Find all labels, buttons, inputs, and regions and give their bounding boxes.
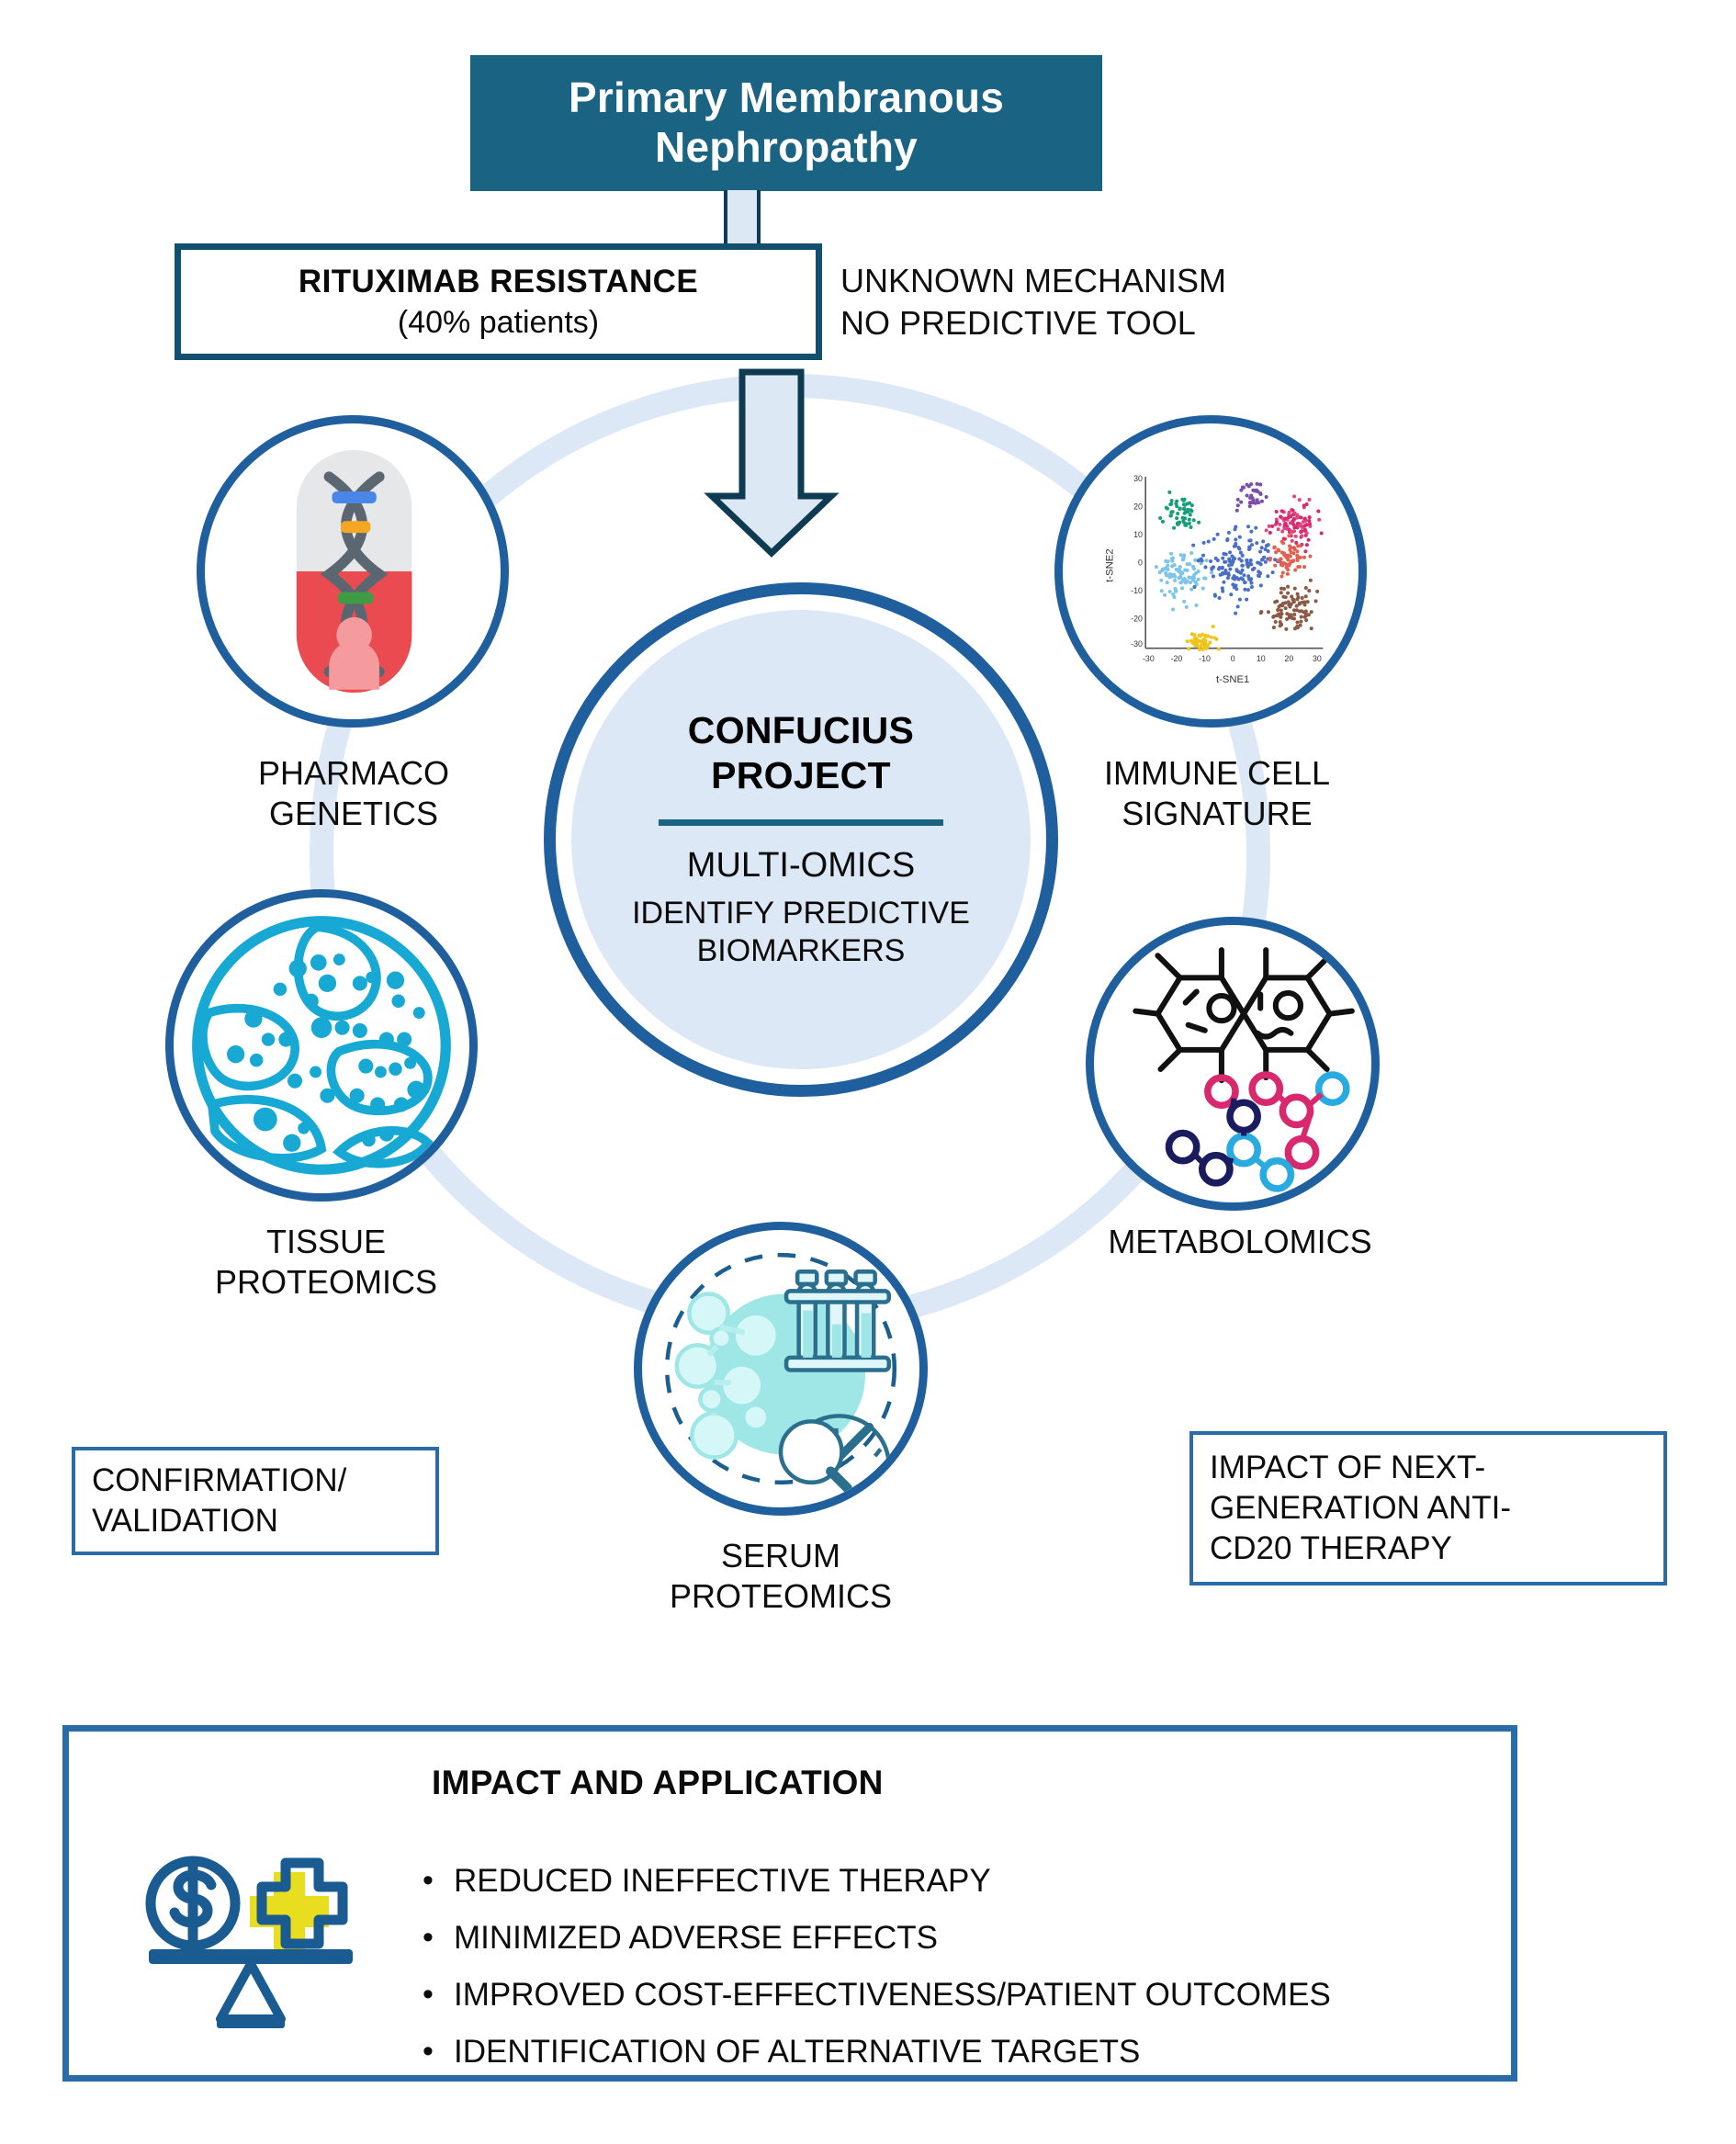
list-item-text: IDENTIFICATION OF ALTERNATIVE TARGETS bbox=[454, 2036, 1140, 2068]
confucius-project-content: CONFUCIUS PROJECT MULTI-OMICS IDENTIFY P… bbox=[571, 610, 1031, 1069]
svg-text:-10: -10 bbox=[1131, 586, 1143, 595]
rituximab-resistance-sub: (40% patients) bbox=[398, 305, 599, 341]
rituximab-resistance-title: RITUXIMAB RESISTANCE bbox=[299, 264, 698, 300]
svg-text:30: 30 bbox=[1133, 474, 1143, 483]
infographic-page: Primary Membranous Nephropathy RITUXIMAB… bbox=[0, 0, 1736, 2144]
bullet-glyph: • bbox=[423, 1979, 454, 2010]
project-name: CONFUCIUS PROJECT bbox=[688, 708, 914, 797]
list-item-text: IMPROVED COST-EFFECTIVENESS/PATIENT OUTC… bbox=[454, 1979, 1331, 2011]
node-label-immune-cell-signature: IMMUNE CELL SIGNATURE bbox=[1047, 753, 1387, 834]
tsne-scatter-icon: 30 20 10 0 -10 -20 -30 -30 -20 -10 0 10 … bbox=[1063, 423, 1358, 719]
confirmation-validation-box: CONFIRMATION/ VALIDATION bbox=[72, 1447, 439, 1555]
dna-capsule-icon bbox=[205, 423, 501, 719]
node-metabolomics[interactable] bbox=[1086, 917, 1380, 1211]
svg-text:10: 10 bbox=[1133, 530, 1143, 539]
anti-cd20-impact-box: IMPACT OF NEXT- GENERATION ANTI- CD20 TH… bbox=[1189, 1431, 1667, 1585]
node-pharmacogenetics[interactable] bbox=[197, 415, 509, 728]
bullet-glyph: • bbox=[423, 1922, 454, 1953]
bullet-glyph: • bbox=[423, 2036, 454, 2067]
confirmation-validation-text: CONFIRMATION/ VALIDATION bbox=[92, 1461, 346, 1541]
node-serum-proteomics[interactable] bbox=[634, 1222, 928, 1516]
node-immune-cell-signature[interactable]: 30 20 10 0 -10 -20 -30 -30 -20 -10 0 10 … bbox=[1054, 415, 1367, 728]
node-label-serum-proteomics: SERUM PROTEOMICS bbox=[625, 1536, 937, 1617]
test-tubes-icon bbox=[642, 1230, 919, 1507]
svg-text:-20: -20 bbox=[1171, 654, 1183, 663]
svg-text:0: 0 bbox=[1231, 654, 1235, 663]
page-title: Primary Membranous Nephropathy bbox=[470, 55, 1102, 191]
list-item: • IDENTIFICATION OF ALTERNATIVE TARGETS bbox=[423, 2036, 1479, 2068]
svg-text:-20: -20 bbox=[1131, 615, 1143, 624]
molecule-icon bbox=[1094, 925, 1371, 1202]
impact-application-heading: IMPACT AND APPLICATION bbox=[432, 1764, 884, 1802]
svg-text:-30: -30 bbox=[1143, 654, 1155, 663]
svg-text:0: 0 bbox=[1138, 559, 1143, 568]
list-item-text: MINIMIZED ADVERSE EFFECTS bbox=[454, 1922, 938, 1954]
node-label-pharmacogenetics: PHARMACO GENETICS bbox=[184, 753, 524, 834]
bullet-glyph: • bbox=[423, 1865, 454, 1896]
list-item: • IMPROVED COST-EFFECTIVENESS/PATIENT OU… bbox=[423, 1979, 1479, 2011]
rituximab-resistance-box: RITUXIMAB RESISTANCE (40% patients) bbox=[175, 243, 822, 360]
tissue-cells-icon bbox=[174, 897, 469, 1193]
project-approach: MULTI-OMICS bbox=[687, 846, 915, 886]
project-divider bbox=[659, 819, 943, 826]
svg-text:10: 10 bbox=[1257, 654, 1266, 663]
node-label-tissue-proteomics: TISSUE PROTEOMICS bbox=[156, 1222, 496, 1303]
page-title-text: Primary Membranous Nephropathy bbox=[569, 73, 1004, 173]
list-item: • REDUCED INEFFECTIVE THERAPY bbox=[423, 1865, 1479, 1897]
svg-text:t-SNE2: t-SNE2 bbox=[1105, 548, 1116, 581]
list-item: • MINIMIZED ADVERSE EFFECTS bbox=[423, 1922, 1479, 1954]
unknown-mechanism-text: UNKNOWN MECHANISM NO PREDICTIVE TOOL bbox=[840, 260, 1410, 344]
node-label-metabolomics: METABOLOMICS bbox=[1056, 1222, 1424, 1262]
svg-text:20: 20 bbox=[1284, 654, 1293, 663]
svg-text:-30: -30 bbox=[1131, 639, 1143, 649]
svg-text:30: 30 bbox=[1313, 654, 1322, 663]
svg-text:t-SNE1: t-SNE1 bbox=[1216, 674, 1249, 685]
svg-text:20: 20 bbox=[1133, 502, 1143, 511]
impact-application-list: • REDUCED INEFFECTIVE THERAPY • MINIMIZE… bbox=[423, 1865, 1479, 2093]
node-tissue-proteomics[interactable] bbox=[165, 889, 478, 1202]
anti-cd20-impact-text: IMPACT OF NEXT- GENERATION ANTI- CD20 TH… bbox=[1210, 1448, 1511, 1568]
cost-benefit-balance-icon bbox=[136, 1846, 366, 2067]
project-goal: IDENTIFY PREDICTIVE BIOMARKERS bbox=[632, 895, 970, 971]
list-item-text: REDUCED INEFFECTIVE THERAPY bbox=[454, 1865, 991, 1897]
svg-text:-10: -10 bbox=[1199, 654, 1211, 663]
